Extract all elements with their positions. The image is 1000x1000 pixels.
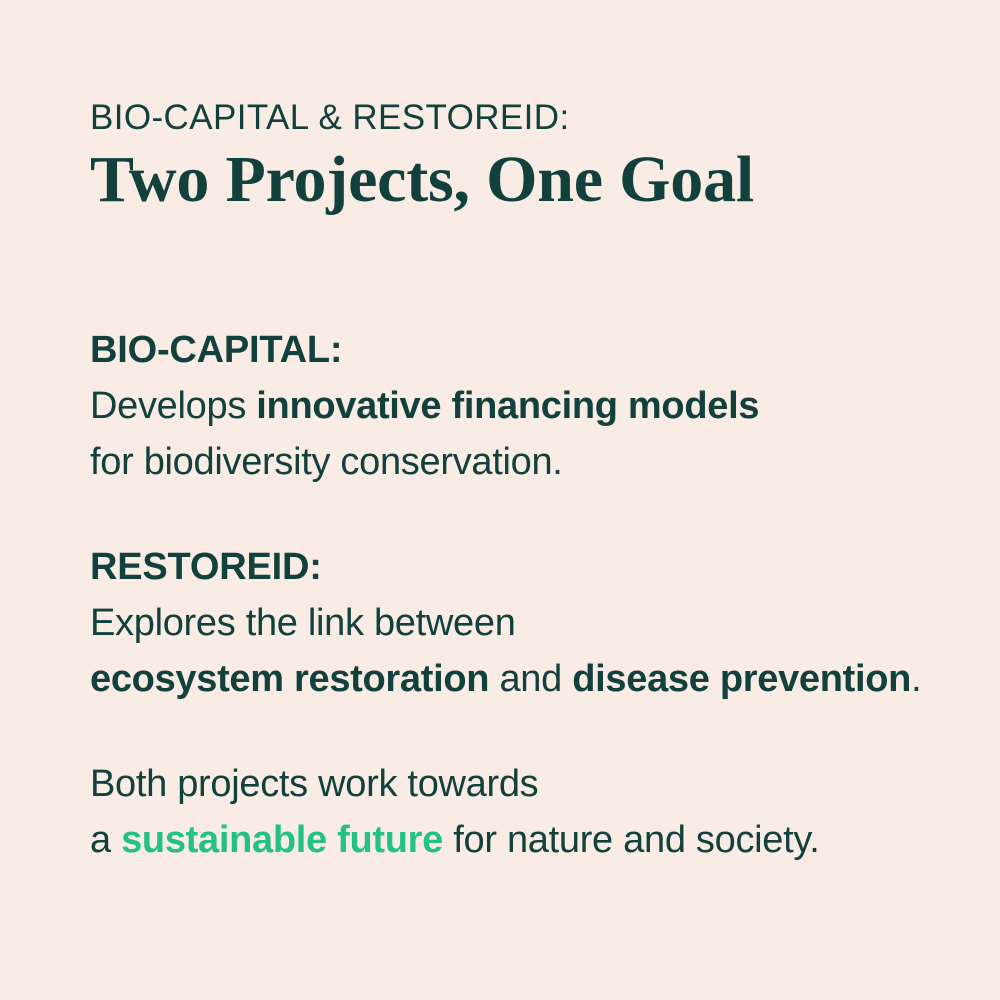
plain-text: Explores the link between: [90, 602, 516, 644]
block-line: Both projects work towards: [90, 756, 960, 812]
text-block: Both projects work towardsa sustainable …: [90, 756, 960, 868]
slide-canvas: BIO-CAPITAL & RESTOREID: Two Projects, O…: [0, 0, 1000, 1000]
block-line: a sustainable future for nature and soci…: [90, 812, 960, 868]
body-content: BIO-CAPITAL:Develops innovative financin…: [90, 322, 960, 868]
emphasis-text: ecosystem restoration: [90, 658, 489, 700]
page-title: Two Projects, One Goal: [90, 143, 940, 217]
block-lead-label: RESTOREID:: [90, 539, 960, 595]
text-blocks: BIO-CAPITAL:Develops innovative financin…: [90, 322, 960, 868]
plain-text: and: [489, 658, 572, 700]
plain-text: .: [911, 658, 921, 700]
emphasis-text: disease prevention: [572, 658, 911, 700]
plain-text: a: [90, 819, 121, 861]
text-block: BIO-CAPITAL:Develops innovative financin…: [90, 322, 960, 490]
plain-text: Develops: [90, 385, 256, 427]
eyebrow-text: BIO-CAPITAL & RESTOREID:: [90, 98, 940, 137]
block-line: for biodiversity conservation.: [90, 434, 960, 490]
block-line: ecosystem restoration and disease preven…: [90, 651, 960, 707]
accent-text: sustainable future: [121, 819, 443, 861]
plain-text: for nature and society.: [443, 819, 820, 861]
plain-text: for biodiversity conservation.: [90, 441, 563, 483]
header-block: BIO-CAPITAL & RESTOREID: Two Projects, O…: [90, 98, 940, 217]
emphasis-text: innovative financing models: [256, 385, 759, 427]
plain-text: Both projects work towards: [90, 763, 538, 805]
text-block: RESTOREID:Explores the link betweenecosy…: [90, 539, 960, 707]
block-line: Explores the link between: [90, 595, 960, 651]
block-lead-label: BIO-CAPITAL:: [90, 322, 960, 378]
block-line: Develops innovative financing models: [90, 378, 960, 434]
